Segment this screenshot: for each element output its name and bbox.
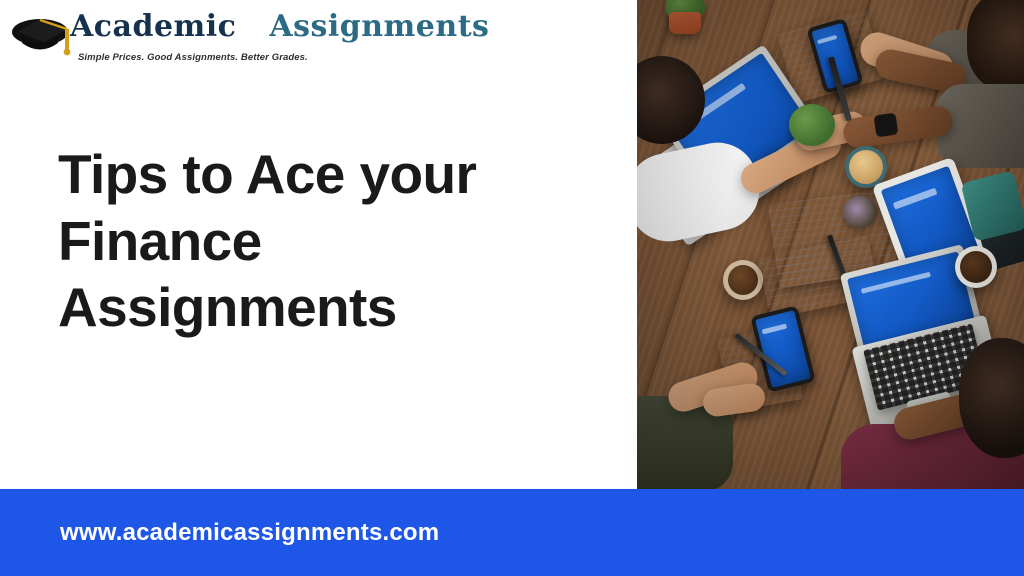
logo-word-assignments: Assignments xyxy=(269,9,489,44)
website-url[interactable]: www.academicassignments.com xyxy=(60,519,439,547)
graduation-cap-icon xyxy=(10,10,78,62)
headline-title: Tips to Ace your Finance Assignments xyxy=(58,141,578,341)
logo-tagline: Simple Prices. Good Assignments. Better … xyxy=(78,52,308,63)
logo-word-academic: Academic xyxy=(70,9,236,44)
hero-photo xyxy=(637,0,1024,489)
logo-wordmark: Academic Assignments xyxy=(70,12,489,42)
photo-vignette xyxy=(637,0,1024,489)
brand-logo[interactable]: Academic Assignments Simple Prices. Good… xyxy=(8,4,408,76)
promotional-banner: Academic Assignments Simple Prices. Good… xyxy=(0,0,1024,576)
footer-bar: www.academicassignments.com xyxy=(0,489,1024,576)
